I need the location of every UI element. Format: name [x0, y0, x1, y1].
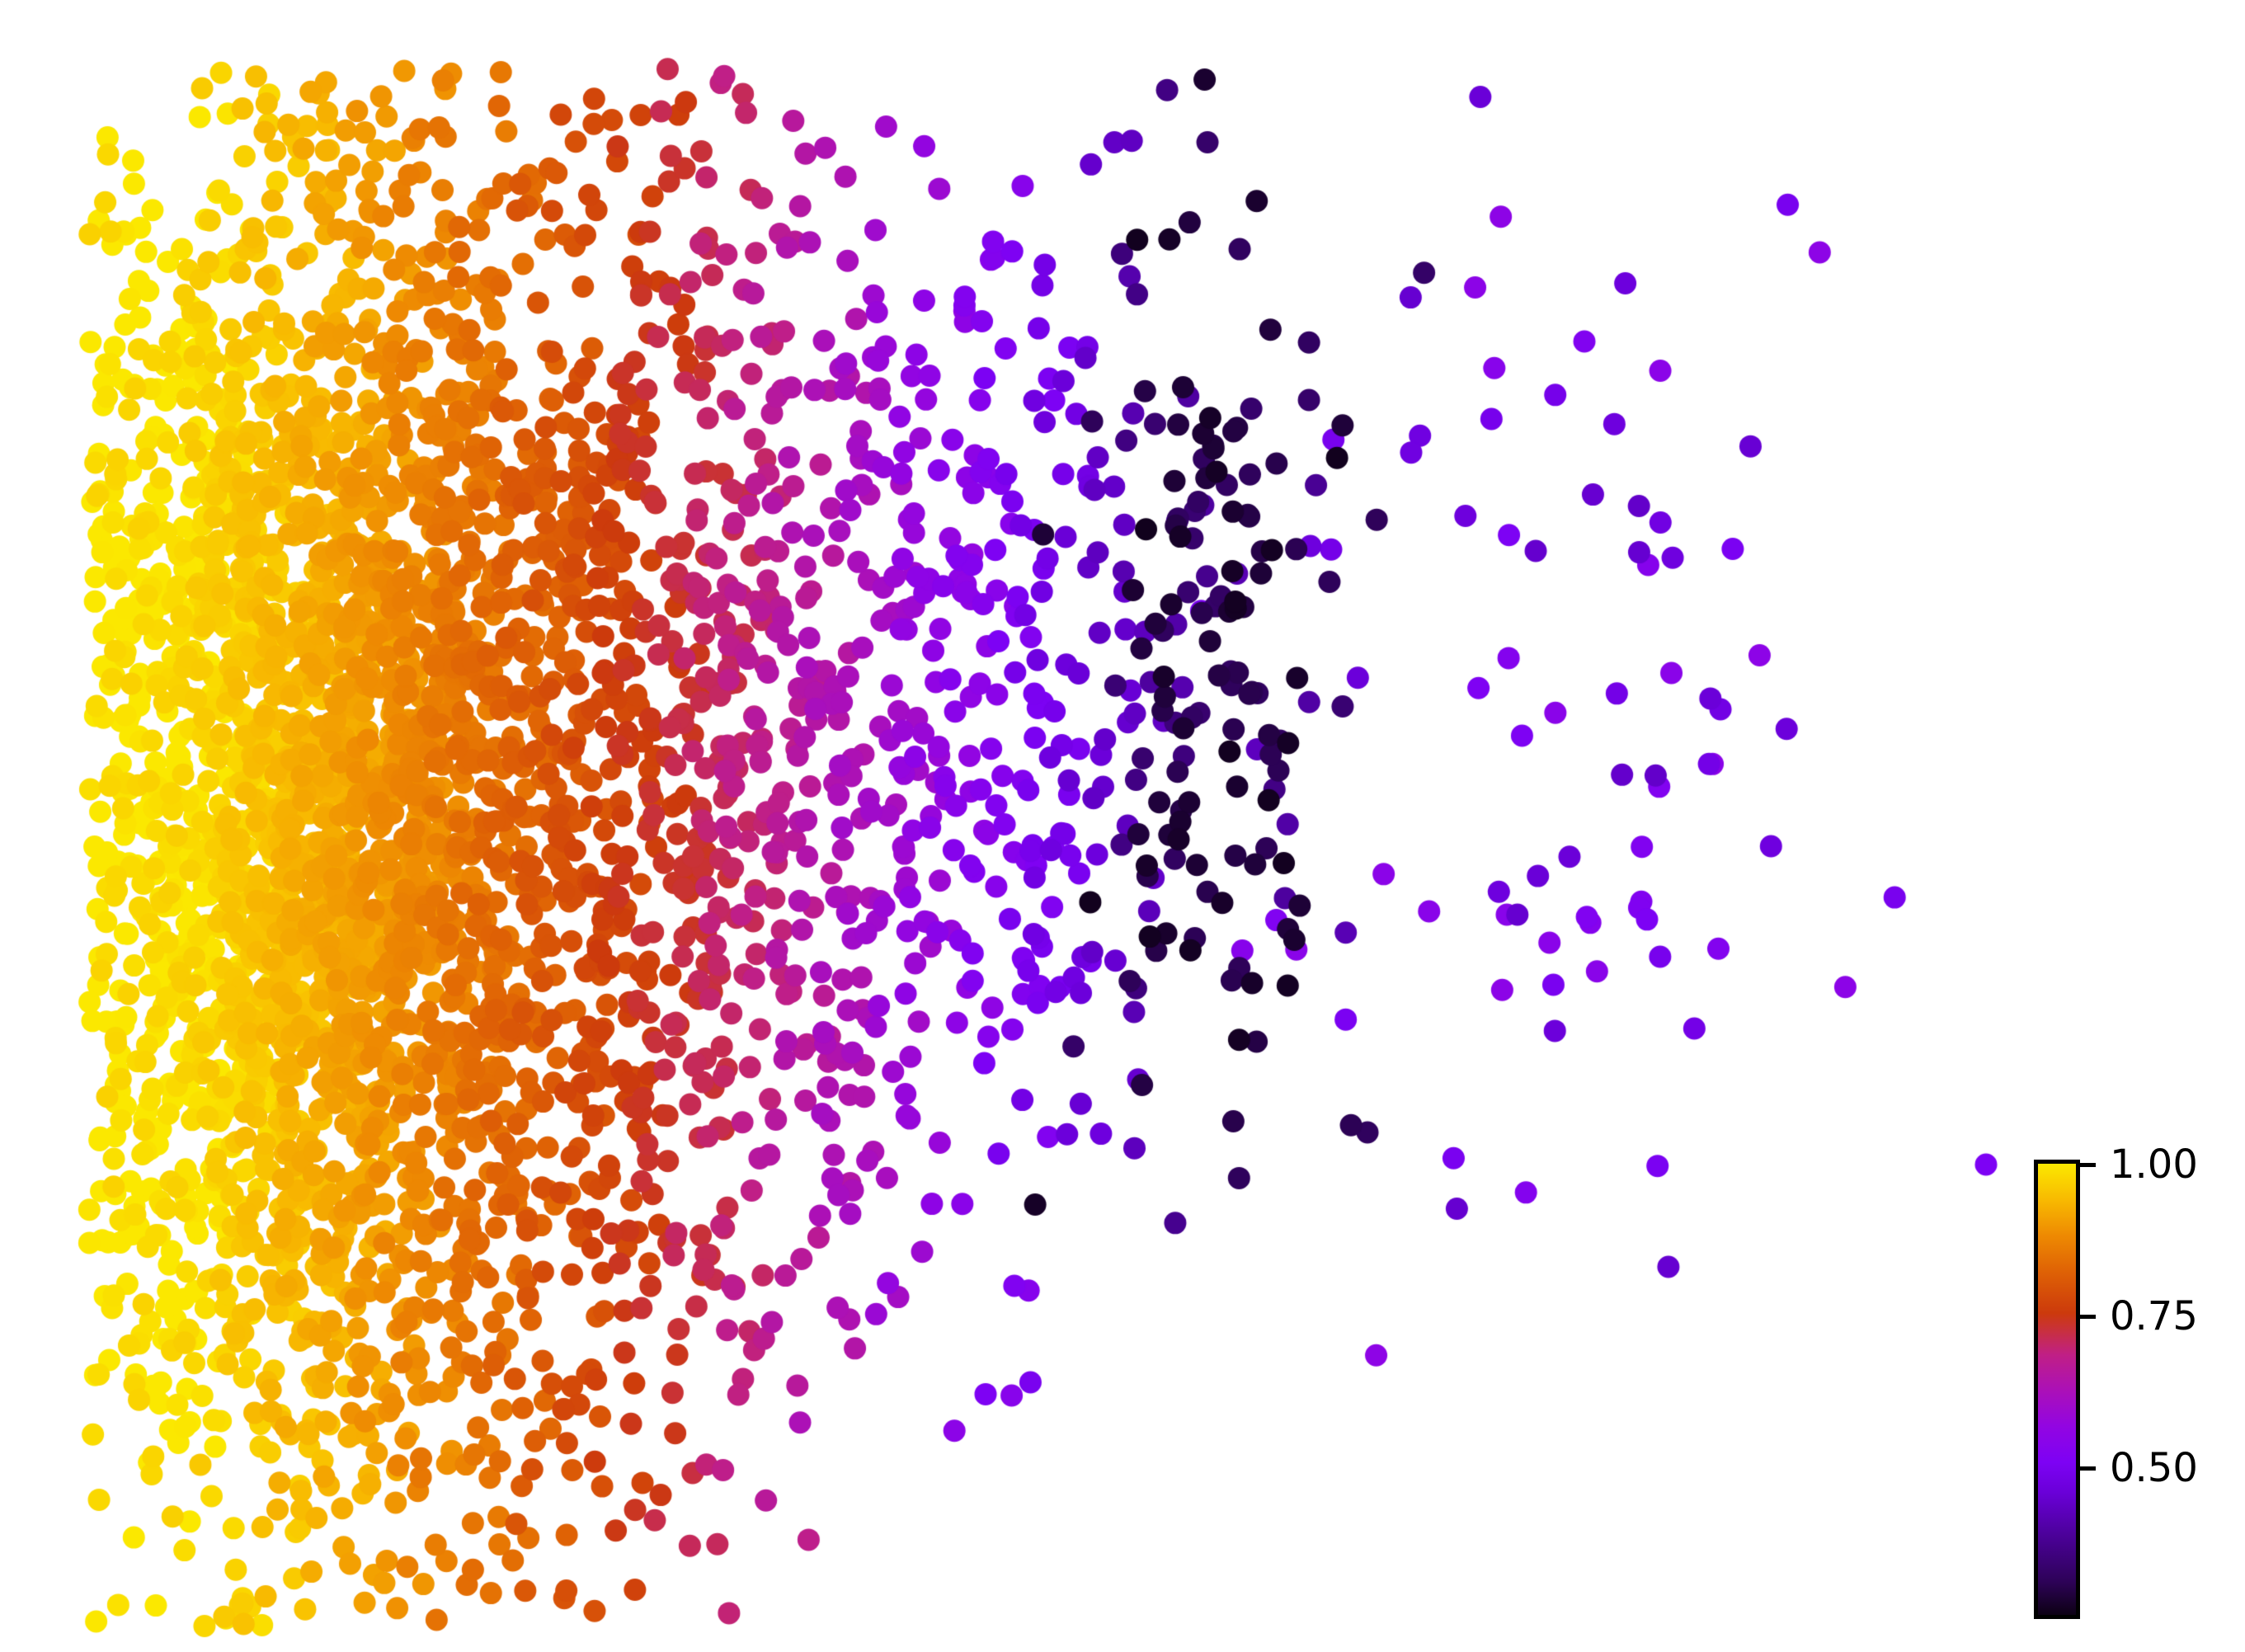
colorbar-gradient — [2034, 1160, 2080, 1619]
scatter-plot-area — [0, 0, 2245, 1652]
colorbar-label-2: 0.75 — [2110, 1293, 2198, 1339]
colorbar-label-1: 1.00 — [2110, 1141, 2198, 1188]
colorbar-tick-2 — [2080, 1315, 2096, 1319]
colorbar-tick-1 — [2080, 1163, 2096, 1167]
colorbar-label-3: 0.50 — [2110, 1445, 2198, 1491]
figure-canvas: NeuroVelo 1.00 0.75 0.50 — [0, 0, 2245, 1652]
colorbar-tick-3 — [2080, 1466, 2096, 1471]
